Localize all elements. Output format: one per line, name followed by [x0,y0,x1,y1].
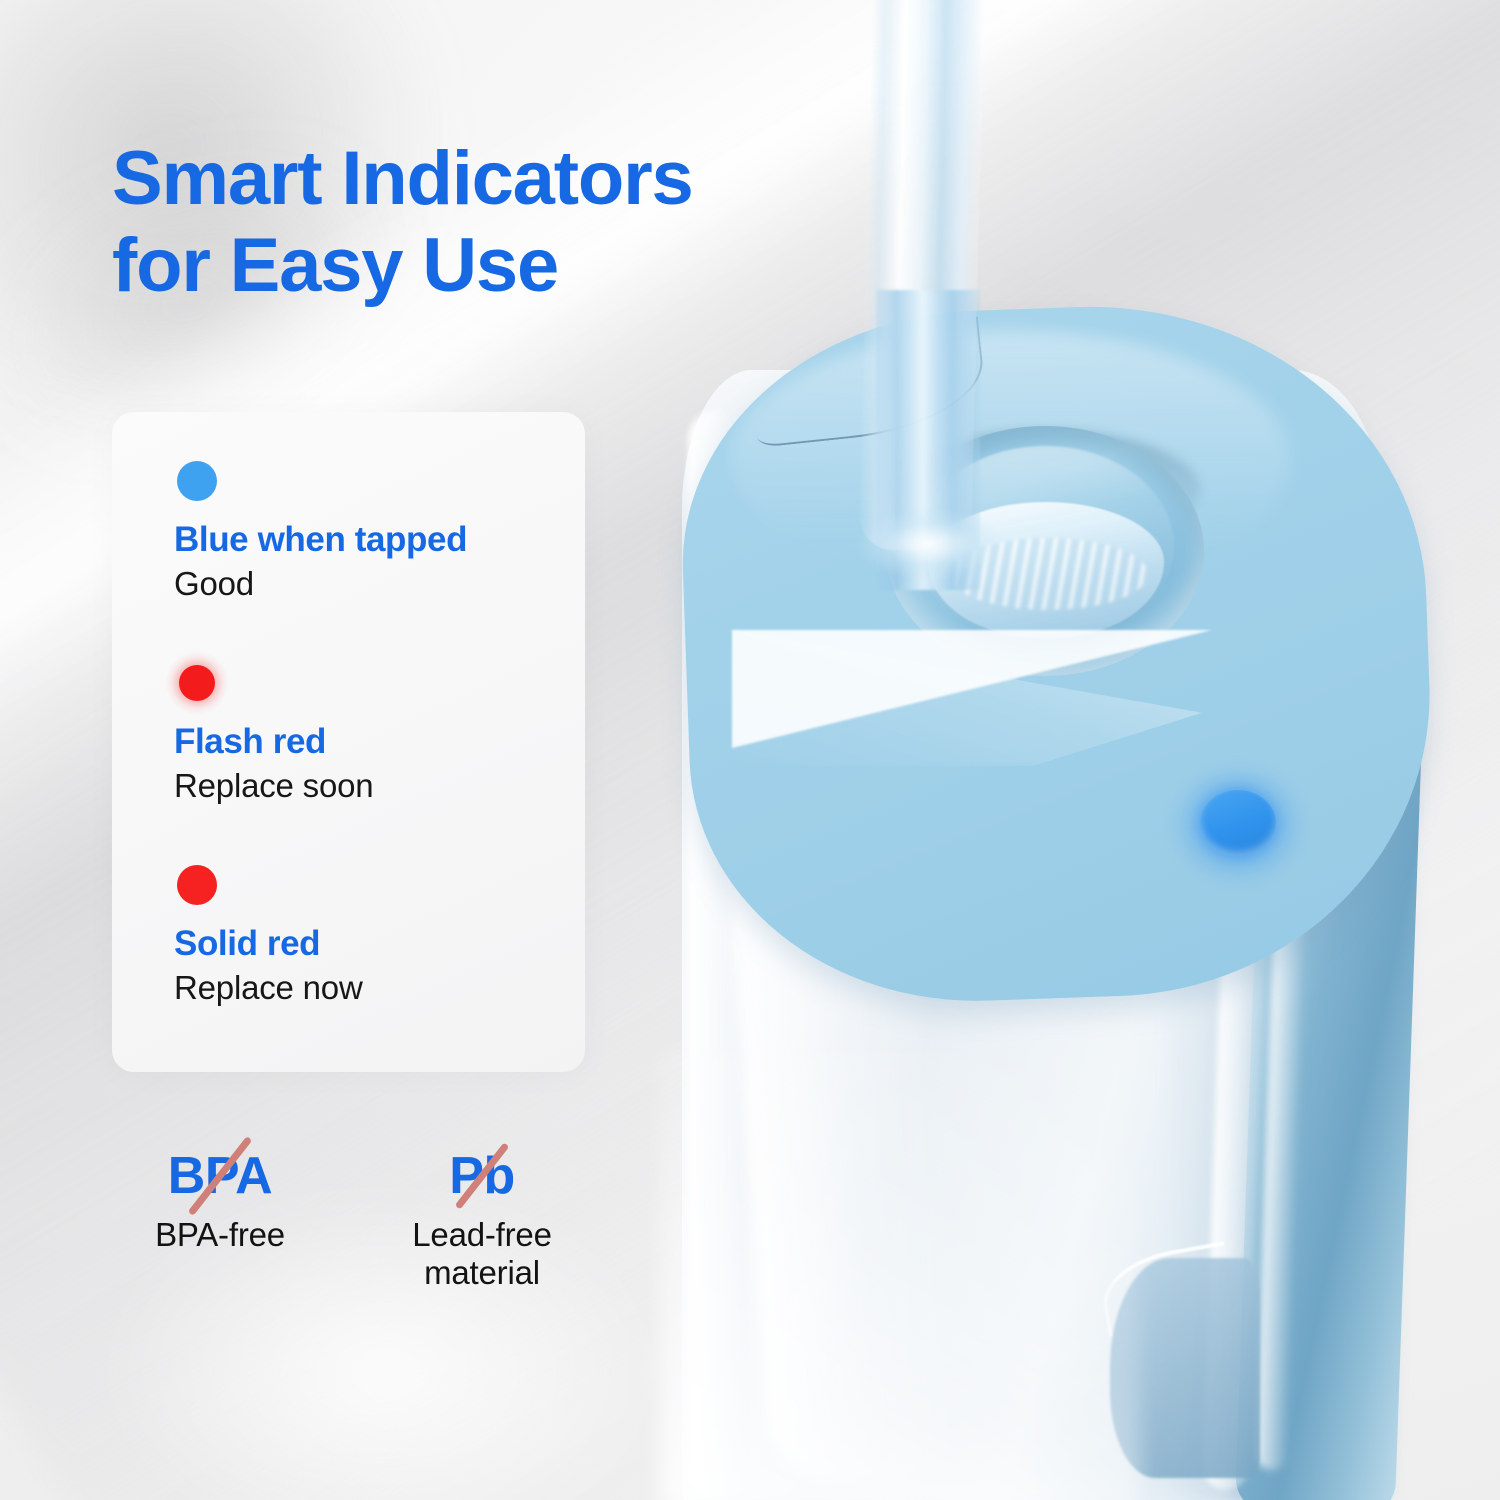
product-feature-image: Smart Indicators for Easy Use Blue when … [0,0,1500,1500]
pitcher-lid-reflection-triangle [732,630,1212,748]
indicator-list: Blue when tapped Good Flash red Replace … [174,458,557,1008]
indicator-subtitle-flash-red: Replace soon [174,767,557,806]
indicator-title-flash-red: Flash red [174,722,557,761]
bpa-strikethrough-icon: BPA [162,1148,278,1204]
pitcher-floor-light [660,1050,1140,1500]
indicator-item-flash-red: Flash red Replace soon [174,660,557,806]
indicator-title-blue: Blue when tapped [174,520,557,559]
indicator-dot-wrap-solid-red [174,862,220,908]
badge-lead-free: Pb Lead-free material [390,1148,574,1291]
badge-label-bpa-free: BPA-free [128,1216,312,1254]
indicator-dot-wrap-flash-red [174,660,220,706]
water-stream-splash [854,508,1004,628]
indicator-subtitle-blue: Good [174,565,557,604]
indicator-legend-card: Blue when tapped Good Flash red Replace … [112,412,585,1072]
badge-label-lead-free: Lead-free material [390,1216,574,1291]
red-dot-flashing-icon [179,665,215,701]
page-title: Smart Indicators for Easy Use [112,136,872,309]
blue-dot-icon [177,461,217,501]
badge-bpa-free: BPA BPA-free [128,1148,312,1291]
feature-badges: BPA BPA-free Pb Lead-free material [128,1148,598,1291]
indicator-item-blue: Blue when tapped Good [174,458,557,604]
indicator-item-solid-red: Solid red Replace now [174,862,557,1008]
led-indicator-light [1200,790,1276,856]
indicator-subtitle-solid-red: Replace now [174,969,557,1008]
indicator-dot-wrap-blue [174,458,220,504]
indicator-title-solid-red: Solid red [174,924,557,963]
pb-strikethrough-icon: Pb [443,1148,520,1204]
red-dot-solid-icon [177,865,217,905]
